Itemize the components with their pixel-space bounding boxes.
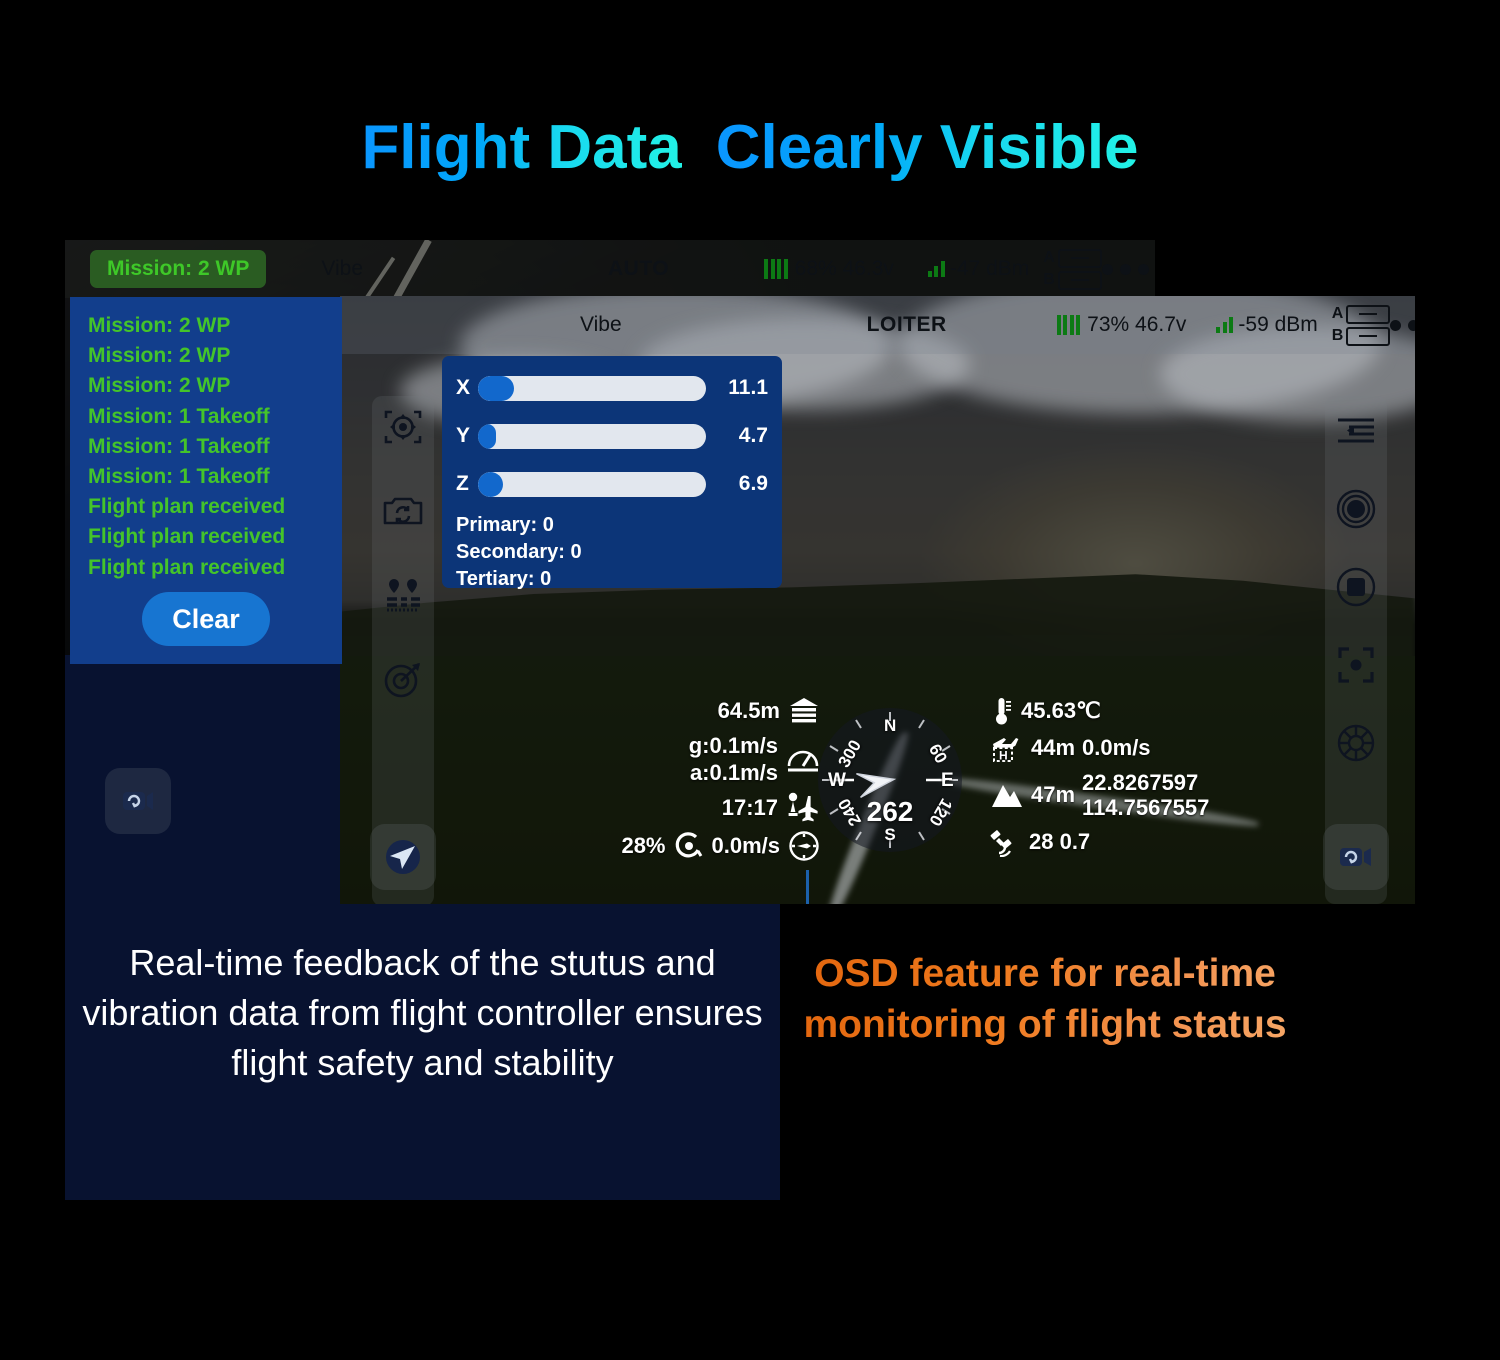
vibe-axis-row: Y 4.7 — [456, 416, 768, 456]
throttle-icon — [674, 831, 704, 861]
osd-flight-time: 17:17 — [722, 795, 778, 821]
page-title-part2: Clearly Visible — [716, 112, 1139, 183]
ab-label-a: A — [1043, 250, 1055, 266]
stop-record-icon[interactable] — [1333, 564, 1379, 610]
log-message: Mission: 1 Takeoff — [88, 402, 342, 432]
vibe-value-x: 11.1 — [706, 376, 768, 400]
vibe-slider-fill — [478, 376, 514, 401]
battery-bars-icon — [1057, 315, 1081, 335]
osd-latitude-value: 22.8267597 — [1082, 770, 1209, 795]
back-ab-switch-icon[interactable]: A B — [1043, 249, 1102, 290]
compass-label-east: E — [941, 770, 954, 792]
back-flight-mode[interactable]: AUTO — [608, 257, 669, 281]
compass-label-west: W — [828, 770, 846, 792]
log-message: Flight plan received — [88, 522, 342, 552]
front-signal-indicator: -59 dBm — [1212, 313, 1317, 337]
vibe-axis-row: X 11.1 — [456, 368, 768, 408]
vibe-clipping-primary: Primary: 0 — [456, 512, 768, 539]
vibe-slider-fill — [478, 472, 503, 497]
collapse-panel-icon[interactable] — [1333, 408, 1379, 454]
vibe-slider-fill — [478, 424, 496, 449]
vibe-value-y: 4.7 — [706, 424, 768, 448]
signal-bars-icon — [928, 261, 945, 277]
back-battery-text: 68% 46.3v — [795, 257, 894, 281]
satellite-icon — [990, 827, 1022, 857]
osd-terrain-alt-value: 47m — [1031, 782, 1075, 808]
ab-label-b: B — [1332, 328, 1344, 344]
vibe-slider-x[interactable] — [478, 376, 706, 401]
camera-crosshair-icon — [806, 870, 809, 904]
compass-label-south: S — [818, 825, 962, 845]
vibe-slider-y[interactable] — [478, 424, 706, 449]
osd-satellite-value: 28 0.7 — [1029, 829, 1090, 855]
back-switch-video-button[interactable] — [105, 768, 171, 834]
message-log-panel: Mission: 2 WP Mission: 2 WP Mission: 2 W… — [70, 297, 342, 664]
front-battery-text: 73% 46.7v — [1087, 313, 1186, 337]
log-message: Mission: 2 WP — [88, 341, 342, 371]
vibe-axis-label-y: Y — [456, 424, 478, 448]
vibe-clipping-tertiary: Tertiary: 0 — [456, 566, 768, 593]
svg-text:H: H — [999, 749, 1008, 763]
vibe-value-z: 6.9 — [706, 472, 768, 496]
front-battery-indicator: 73% 46.7v — [1057, 313, 1187, 337]
vertical-speed-icon — [788, 830, 820, 862]
osd-altitude-row: 64.5m — [340, 696, 820, 726]
flight-time-icon — [786, 792, 820, 824]
back-status-bar: Mission: 2 WP Vibe AUTO 68% 46.3v -47 dB… — [65, 240, 1155, 298]
back-more-menu-icon[interactable] — [1102, 264, 1149, 275]
vibe-axis-row: Z 6.9 — [456, 464, 768, 504]
front-flight-mode[interactable]: LOITER — [867, 313, 947, 337]
thermometer-icon — [990, 696, 1014, 726]
vibe-axis-label-x: X — [456, 376, 478, 400]
compass-heading-value: 262 — [818, 796, 962, 828]
log-message: Mission: 2 WP — [88, 371, 342, 401]
osd-satellite-row: 28 0.7 — [990, 827, 1209, 857]
home-distance-icon: H — [990, 733, 1024, 763]
osd-vertical-speed: 0.0m/s — [712, 833, 781, 859]
left-caption: Real-time feedback of the stutus and vib… — [65, 938, 780, 1088]
back-mission-chip[interactable]: Mission: 2 WP — [90, 250, 266, 288]
speedometer-icon — [786, 744, 820, 774]
home-altitude-icon — [788, 696, 820, 726]
osd-left-cluster: 64.5m g:0.1m/s a:0.1m/s 1 — [340, 696, 820, 868]
osd-home-distance-value: 44m — [1031, 735, 1075, 761]
gimbal-wheel-icon[interactable] — [1333, 720, 1379, 766]
osd-speed-row: g:0.1m/s a:0.1m/s — [340, 732, 820, 786]
osd-air-speed: a:0.1m/s — [690, 759, 778, 786]
osd-gps-speed: g:0.1m/s — [689, 732, 778, 759]
front-vibe-label[interactable]: Vibe — [580, 313, 622, 337]
front-more-menu-icon[interactable] — [1390, 320, 1415, 331]
focus-frame-icon[interactable] — [1333, 642, 1379, 688]
vibration-panel: X 11.1 Y 4.7 Z 6.9 Primary: 0 Secondary:… — [442, 356, 782, 588]
mountain-icon — [990, 780, 1024, 810]
page-title-part1: Flight Data — [361, 112, 681, 183]
osd-altitude-value: 64.5m — [718, 698, 780, 724]
camera-switch-icon[interactable] — [380, 488, 426, 534]
switch-video-button[interactable] — [1323, 824, 1389, 890]
page-title: Flight DataClearly Visible — [0, 112, 1500, 183]
signal-bars-icon — [1216, 317, 1233, 333]
gimbal-recenter-icon[interactable] — [380, 404, 426, 450]
osd-terrain-row: 47m 22.8267597 114.7567557 — [990, 770, 1209, 820]
osd-temperature-row: 45.63℃ — [990, 696, 1209, 726]
osd-right-cluster: 45.63℃ H 44m 0.0m/s 47m 22.8267597 — [990, 696, 1209, 864]
osd-longitude-value: 114.7567557 — [1082, 795, 1209, 820]
log-message: Flight plan received — [88, 492, 342, 522]
log-message: Mission: 1 Takeoff — [88, 432, 342, 462]
vibe-slider-z[interactable] — [478, 472, 706, 497]
log-message: Flight plan received — [88, 553, 342, 583]
back-battery-indicator: 68% 46.3v — [764, 257, 894, 281]
back-vibe-label[interactable]: Vibe — [321, 257, 363, 281]
log-message: Mission: 2 WP — [88, 311, 342, 341]
osd-flight-time-row: 17:17 — [340, 792, 820, 824]
clear-messages-button[interactable]: Clear — [142, 592, 270, 646]
front-signal-text: -59 dBm — [1238, 313, 1317, 337]
front-ab-switch-icon[interactable]: A B — [1332, 305, 1391, 346]
osd-throttle-value: 28% — [621, 833, 665, 859]
compass-widget[interactable]: N 60 120 240 300 W E 262 S — [818, 708, 962, 852]
osd-throttle-row: 28% 0.0m/s — [340, 830, 820, 862]
back-signal-text: -47 dBm — [950, 257, 1029, 281]
osd-temperature-value: 45.63℃ — [1021, 698, 1101, 724]
vibe-axis-label-z: Z — [456, 472, 478, 496]
back-signal-indicator: -47 dBm — [924, 257, 1029, 281]
record-video-icon[interactable] — [1333, 486, 1379, 532]
waypoint-mission-icon[interactable] — [380, 572, 426, 618]
battery-bars-icon — [764, 259, 788, 279]
front-status-bar: Vibe LOITER 73% 46.7v -59 dBm A B — [340, 296, 1415, 354]
right-caption: OSD feature for real-time monitoring of … — [790, 948, 1300, 1050]
ab-label-a: A — [1332, 306, 1344, 322]
ab-label-b: B — [1043, 272, 1055, 288]
log-message: Mission: 1 Takeoff — [88, 462, 342, 492]
osd-home-speed-value: 0.0m/s — [1082, 735, 1151, 761]
osd-home-distance-row: H 44m 0.0m/s — [990, 733, 1209, 763]
vibe-clipping-secondary: Secondary: 0 — [456, 539, 768, 566]
compass-label-north: N — [884, 716, 896, 736]
